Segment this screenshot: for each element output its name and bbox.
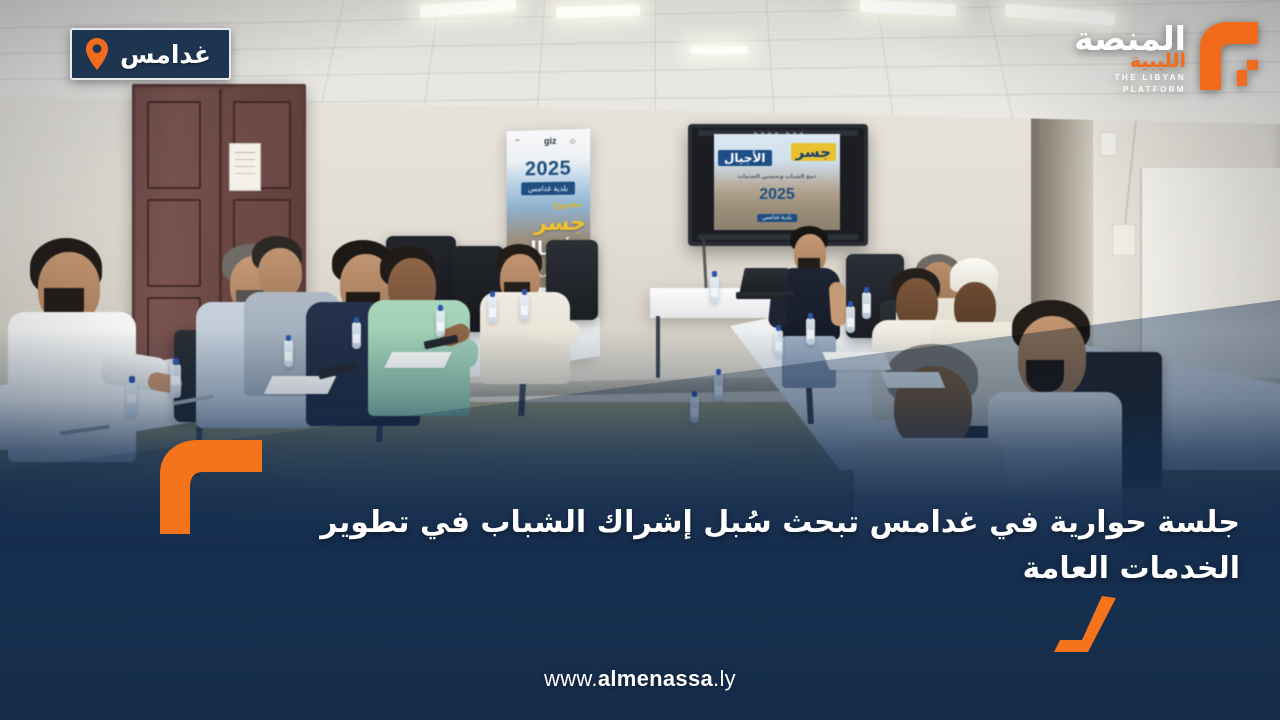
- headline: جلسة حوارية في غدامس تبحث سُبل إشراك الش…: [230, 500, 1240, 591]
- brand-wordmark: المنصة الليبية THE LIBYAN PLATFORM: [1074, 14, 1186, 95]
- url-tld: .ly: [713, 666, 736, 691]
- brand-logo[interactable]: المنصة الليبية THE LIBYAN PLATFORM: [1074, 14, 1266, 95]
- map-pin-icon: [84, 37, 110, 71]
- location-badge[interactable]: غدامس: [70, 28, 231, 80]
- brand-name-arabic-sub: الليبية: [1130, 52, 1186, 71]
- website-url[interactable]: www.almenassa.ly: [0, 666, 1280, 692]
- brand-name-english-line1: THE LIBYAN: [1115, 73, 1186, 83]
- orange-corner-accent-icon: [1048, 596, 1130, 658]
- brand-name-english-line2: PLATFORM: [1123, 85, 1186, 95]
- news-card: ~ giz ◇ 2025 بلدية غدامس مشروع جسر الأجي…: [0, 0, 1280, 720]
- brand-hook-logomark-icon: [1190, 14, 1266, 92]
- url-name: almenassa: [598, 666, 713, 691]
- location-label: غدامس: [120, 42, 211, 67]
- url-prefix: www.: [544, 666, 598, 691]
